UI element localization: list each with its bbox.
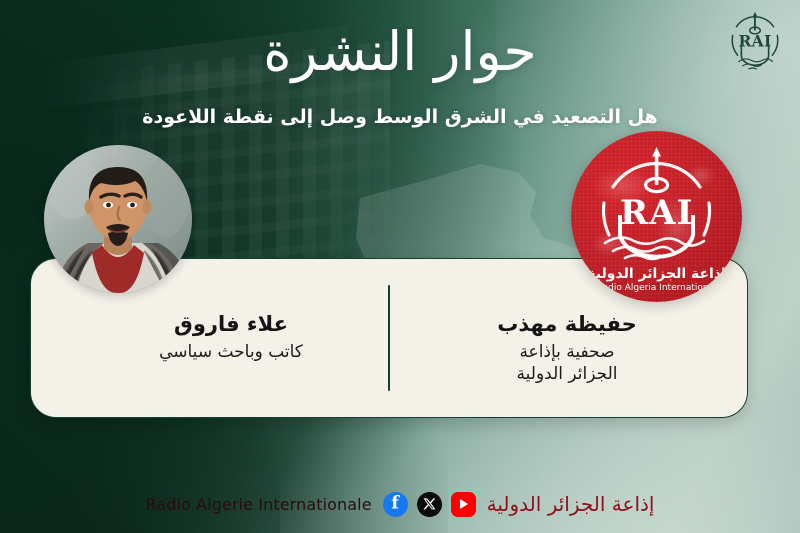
x-twitter-icon[interactable]	[417, 492, 442, 517]
guest-left: علاء فاروق كاتب وباحث سياسي	[73, 311, 389, 364]
program-title: حوار النشرة	[0, 22, 800, 81]
station-logo-badge: RAI إذاعة الجزائر الدولية Radio Algeria …	[571, 131, 742, 302]
guest-left-avatar	[44, 145, 192, 293]
guest-right: حفيظة مهذب صحفية بإذاعة الجزائر الدولية	[409, 311, 725, 386]
guest-left-name: علاء فاروق	[73, 311, 389, 337]
svg-text:Radio Algeria International: Radio Algeria International	[597, 283, 717, 293]
broadcast-promo-graphic: RAI حوار النشرة هل التصعيد في الشرق الوس…	[0, 0, 800, 533]
svg-text:RAI: RAI	[620, 193, 694, 233]
guest-right-role-line2: الجزائر الدولية	[409, 364, 725, 386]
svg-text:إذاعة الجزائر الدولية: إذاعة الجزائر الدولية	[587, 266, 726, 282]
program-subtitle: هل التصعيد في الشرق الوسط وصل إلى نقطة ا…	[0, 105, 800, 130]
youtube-icon[interactable]	[451, 492, 476, 517]
footer-arabic-label: إذاعة الجزائر الدولية	[487, 492, 655, 516]
social-links	[383, 492, 476, 517]
footer-latin-label: Radio Algerie Internationale	[146, 495, 372, 514]
guest-right-name: حفيظة مهذب	[409, 311, 725, 337]
footer-bar: Radio Algerie Internationale إذاعة الجزا…	[0, 487, 800, 521]
guest-right-role-line1: صحفية بإذاعة	[409, 342, 725, 364]
badge-artwork: RAI إذاعة الجزائر الدولية Radio Algeria …	[571, 131, 742, 302]
facebook-icon[interactable]	[383, 492, 408, 517]
guest-left-role: كاتب وباحث سياسي	[73, 342, 389, 364]
